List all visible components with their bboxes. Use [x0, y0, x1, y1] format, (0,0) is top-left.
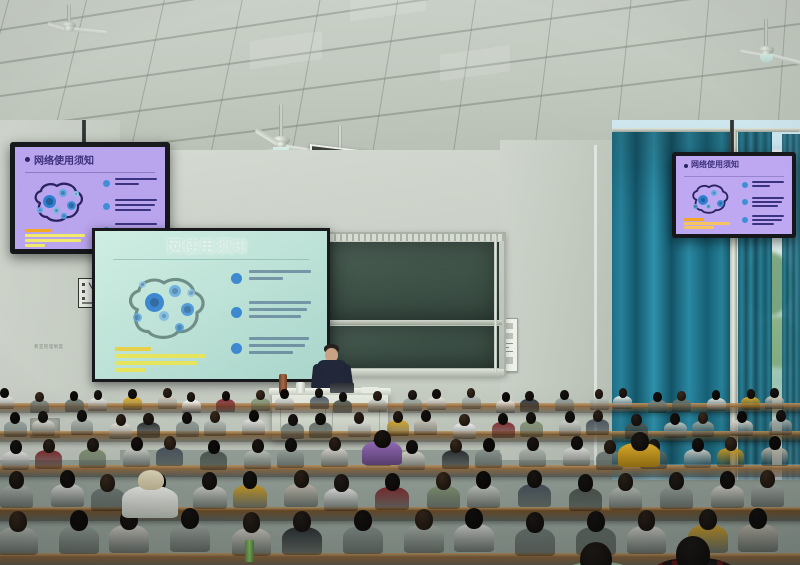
student — [284, 470, 317, 510]
student — [200, 440, 227, 473]
projection-screen: 网使用须知 — [92, 228, 330, 382]
student — [404, 509, 444, 557]
student-head — [87, 438, 99, 452]
student-head — [692, 438, 704, 452]
student-head — [334, 474, 349, 492]
student — [730, 411, 753, 439]
tv-right-mount — [730, 120, 734, 152]
student-torso — [156, 447, 183, 466]
student — [520, 412, 543, 440]
student-head — [698, 412, 708, 424]
brain-graphic — [27, 179, 87, 225]
slide-title: 网络使用须知 — [34, 152, 94, 167]
student — [765, 388, 784, 411]
student — [520, 391, 539, 414]
student-head — [593, 410, 603, 422]
student-torso — [35, 450, 62, 469]
student-head — [565, 411, 575, 423]
student-head — [580, 542, 612, 565]
student-green-shirt — [556, 542, 640, 565]
student — [664, 413, 687, 441]
student — [156, 436, 183, 469]
student — [613, 388, 632, 411]
student-head — [373, 391, 382, 401]
student-head — [285, 438, 297, 452]
student — [427, 389, 446, 412]
student-head — [288, 414, 298, 426]
student-head — [210, 411, 220, 423]
student-head — [0, 388, 9, 398]
student-head — [560, 390, 569, 400]
student — [563, 436, 590, 469]
ceiling-tile — [350, 0, 426, 21]
student-cap — [138, 470, 164, 490]
student — [79, 438, 106, 471]
student-head — [256, 390, 265, 400]
student — [32, 411, 55, 439]
ceiling-tile — [440, 45, 510, 81]
student-head — [249, 410, 259, 422]
student-head — [571, 436, 583, 450]
student-head — [94, 390, 103, 400]
water-bottle — [245, 540, 254, 562]
student-head — [502, 392, 511, 402]
student-head — [393, 411, 403, 423]
projected-slide-title: 网使用须知 — [167, 233, 247, 257]
student — [515, 512, 555, 560]
student — [672, 391, 691, 414]
student-head — [222, 391, 231, 401]
student-torso — [563, 447, 590, 466]
student — [518, 470, 551, 510]
student — [0, 511, 38, 559]
tv-right-screen: 网络使用须知 — [676, 156, 792, 234]
student-head — [653, 392, 662, 402]
student-head — [527, 437, 539, 451]
student-torso — [519, 448, 546, 467]
student — [414, 410, 437, 438]
student-yellow-shirt — [618, 432, 660, 464]
student-head — [252, 439, 264, 453]
student — [711, 471, 744, 511]
student-head — [770, 388, 779, 398]
student — [277, 438, 304, 471]
ceiling-tile — [250, 31, 322, 69]
student-head — [163, 388, 172, 398]
student-torso — [244, 450, 271, 469]
student — [496, 392, 515, 415]
student-head — [70, 391, 79, 401]
student-torso — [277, 449, 304, 468]
audience-area — [0, 360, 800, 565]
student-head — [70, 510, 88, 531]
student — [717, 437, 744, 470]
student — [310, 388, 329, 411]
student-torso — [122, 486, 178, 518]
student-head — [187, 392, 196, 402]
student — [375, 473, 408, 513]
student-head — [525, 391, 534, 401]
student — [368, 391, 387, 414]
student-head — [60, 470, 75, 488]
student-beige-cap — [122, 470, 178, 514]
ceiling-fan-top-left — [48, 4, 118, 48]
student — [0, 471, 33, 511]
blackboard-slide-rail-right — [494, 236, 497, 372]
student-head — [374, 430, 391, 448]
student-head — [294, 470, 309, 488]
student-head — [527, 470, 542, 488]
student — [343, 510, 383, 558]
student-torso — [79, 449, 106, 468]
student — [738, 508, 778, 556]
student — [609, 473, 642, 513]
student — [233, 471, 266, 511]
student-torso — [123, 448, 150, 467]
student-torso — [398, 451, 425, 470]
student-torso — [2, 451, 29, 470]
student — [492, 413, 515, 441]
student — [204, 411, 227, 439]
student — [242, 410, 265, 438]
student-head — [631, 432, 649, 451]
student-head — [432, 389, 441, 399]
student — [751, 470, 784, 510]
student-head — [459, 414, 469, 426]
student — [475, 438, 502, 471]
student — [324, 474, 357, 514]
student — [398, 440, 425, 473]
student — [684, 438, 711, 471]
student-head — [10, 440, 22, 454]
student-head — [202, 472, 217, 490]
student — [71, 410, 94, 438]
student — [692, 412, 715, 440]
student — [462, 388, 481, 411]
student — [454, 508, 494, 556]
student-torso — [321, 448, 348, 467]
student-head — [385, 473, 400, 491]
student-head — [677, 391, 686, 401]
student-torso — [717, 448, 744, 467]
student-head — [450, 439, 462, 453]
student — [442, 439, 469, 472]
student-head — [9, 511, 27, 532]
projection-surface: 网使用须知 — [95, 231, 327, 379]
student-head — [631, 414, 641, 426]
student — [275, 389, 294, 412]
student-head — [760, 470, 775, 488]
slide-highlight-note-right — [684, 218, 732, 230]
student-head — [243, 471, 258, 489]
student — [769, 410, 792, 438]
student-head — [436, 472, 451, 490]
student-head — [776, 410, 786, 422]
projected-brain-graphic — [117, 271, 211, 345]
student-head — [354, 510, 372, 531]
student-head — [747, 389, 756, 399]
student — [519, 437, 546, 470]
student-head — [638, 510, 656, 531]
student — [51, 470, 84, 510]
student-head — [354, 412, 364, 424]
student-torso — [200, 451, 227, 470]
student-head — [578, 474, 593, 492]
student-head — [38, 411, 48, 423]
student-torso — [684, 449, 711, 468]
student-head — [9, 471, 24, 489]
brain-graphic-right — [686, 182, 732, 216]
student — [590, 389, 609, 412]
student-head — [749, 508, 767, 529]
student-head — [618, 473, 633, 491]
student-head — [526, 412, 536, 424]
student-head — [181, 508, 199, 529]
student-head — [243, 512, 261, 533]
student-head — [143, 413, 153, 425]
student-head — [737, 411, 747, 423]
student-head — [208, 440, 220, 454]
student-head — [483, 438, 495, 452]
student-head — [406, 440, 418, 454]
wall-notice-label: 教室管理制度 — [34, 344, 63, 350]
blackboard-top-rail — [324, 234, 504, 241]
student-head — [669, 472, 684, 490]
student-head — [329, 437, 341, 451]
student — [158, 388, 177, 411]
student-head — [43, 439, 55, 453]
slide-title-right: 网络使用须知 — [691, 159, 739, 170]
student-head — [116, 414, 126, 426]
student — [648, 392, 667, 415]
student-head — [595, 389, 604, 399]
student-head — [670, 413, 680, 425]
student-head — [293, 511, 311, 532]
student-plaid-shirt — [648, 536, 740, 565]
student — [660, 472, 693, 512]
student — [59, 510, 99, 558]
student — [35, 439, 62, 472]
student — [123, 437, 150, 470]
student-head — [415, 509, 433, 530]
student-head — [699, 509, 717, 530]
student — [559, 411, 582, 439]
student-head — [128, 389, 137, 399]
tv-right: 网络使用须知 — [672, 152, 796, 238]
student-head — [408, 390, 417, 400]
student — [586, 410, 609, 438]
student-head — [100, 474, 115, 492]
student — [0, 388, 14, 411]
student — [321, 437, 348, 470]
student-head — [769, 436, 781, 450]
student-head — [421, 410, 431, 422]
student — [569, 474, 602, 514]
student — [453, 414, 476, 442]
student-head — [604, 440, 616, 454]
student-purple-shirt — [362, 430, 402, 462]
student-head — [339, 392, 348, 402]
student — [193, 472, 226, 512]
student — [467, 471, 500, 511]
student-head — [467, 388, 476, 398]
blackboard-mid-rail — [326, 320, 502, 325]
student-head — [526, 512, 544, 533]
student-torso — [475, 449, 502, 468]
student-head — [35, 392, 44, 402]
student-head — [280, 389, 289, 399]
student-head — [720, 471, 735, 489]
student — [761, 436, 788, 469]
student — [2, 440, 29, 473]
student — [555, 390, 574, 413]
blackboard-panel-upper — [329, 242, 499, 320]
student-head — [676, 536, 710, 565]
student — [244, 439, 271, 472]
student-head — [476, 471, 491, 489]
student-head — [725, 437, 737, 451]
lecture-hall-photo: 教室管理制度 — [0, 0, 800, 565]
student-head — [131, 437, 143, 451]
student — [741, 389, 760, 412]
student-head — [619, 388, 628, 398]
student — [707, 390, 726, 413]
student — [4, 412, 27, 440]
student-head — [465, 508, 483, 529]
slide-highlight-note — [25, 229, 87, 247]
student — [123, 389, 142, 412]
student — [427, 472, 460, 512]
student — [282, 511, 322, 559]
ceiling-grid-line — [0, 0, 800, 114]
student-torso — [442, 450, 469, 469]
student-head — [77, 410, 87, 422]
student-torso — [761, 447, 788, 466]
student-head — [587, 511, 605, 532]
ceiling-fan-right — [742, 18, 800, 80]
student-head — [164, 436, 176, 450]
student-head — [315, 413, 325, 425]
